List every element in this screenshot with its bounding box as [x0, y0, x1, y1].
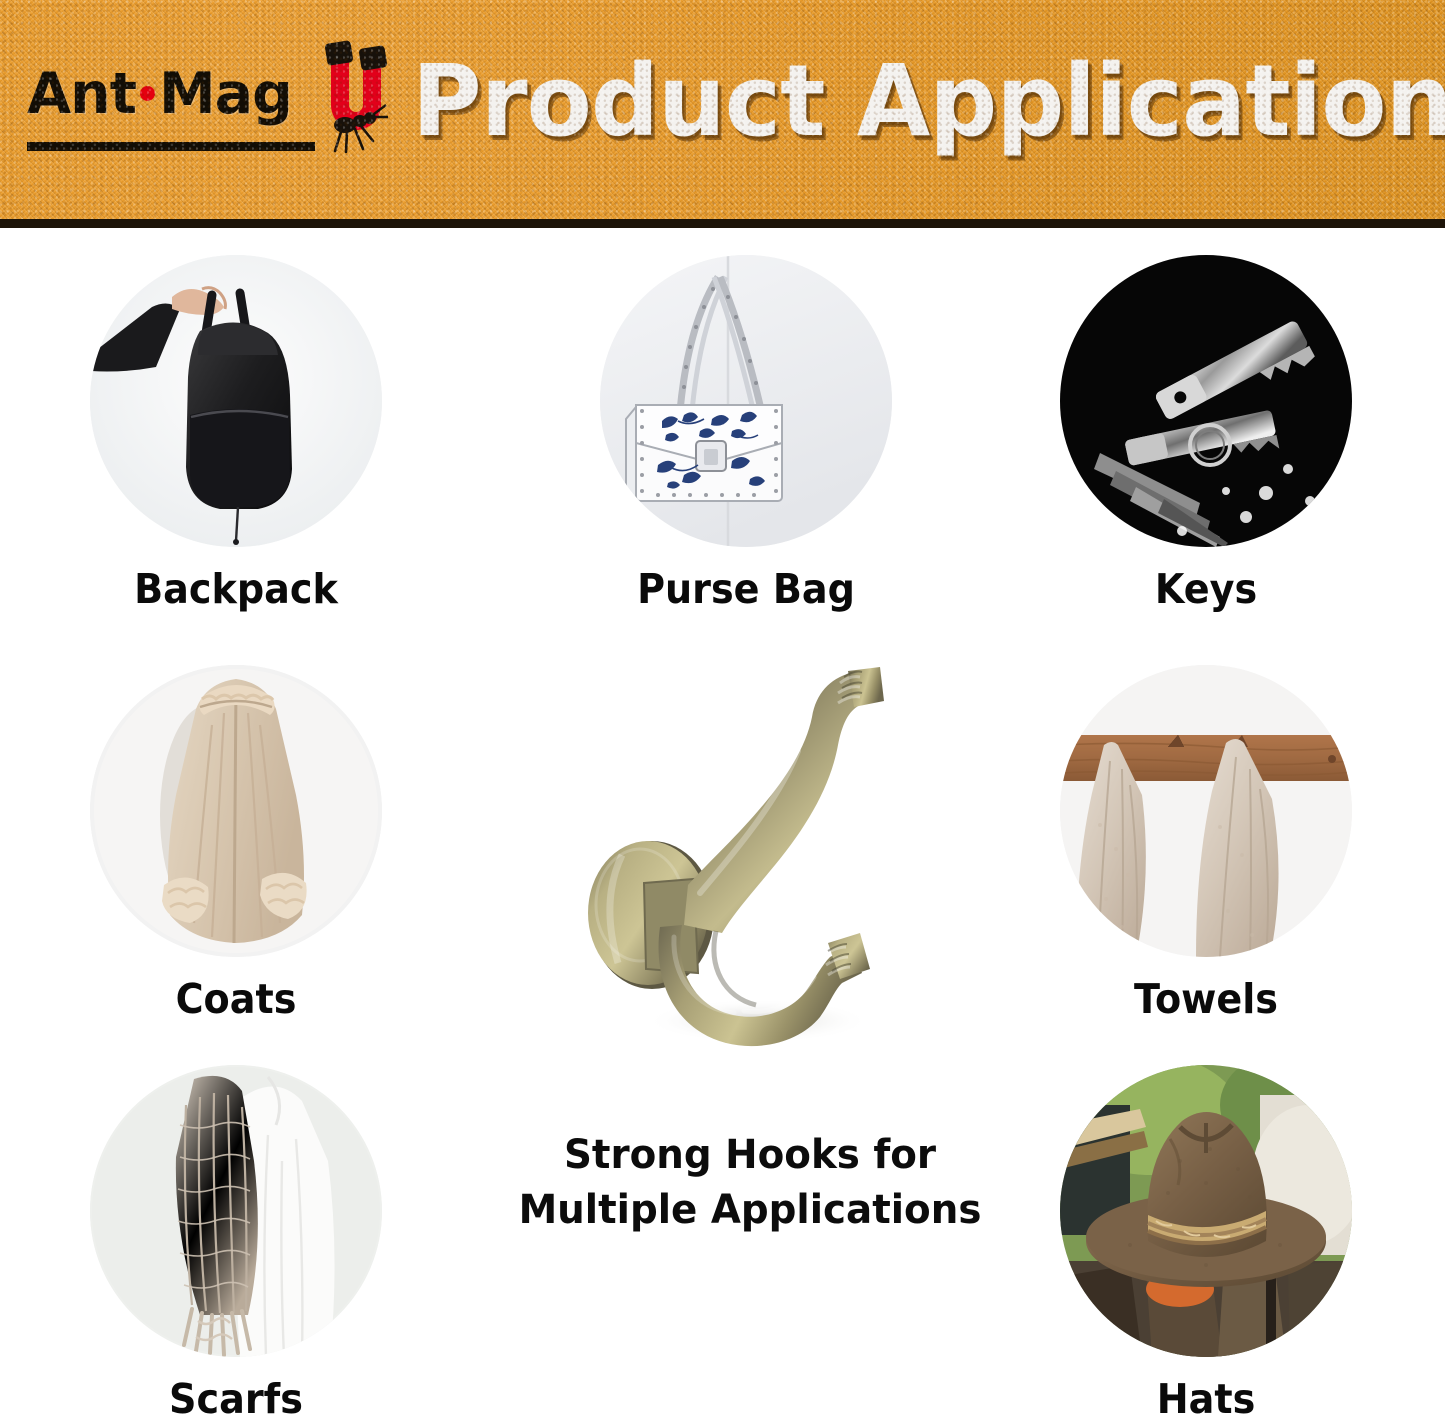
brand-dot-icon [140, 86, 155, 101]
purse-bag-photo [600, 255, 892, 547]
product-label-scarfs: Scarfs [100, 1375, 372, 1423]
brand-part-one: Ant [27, 61, 136, 127]
brand-underline [27, 142, 315, 151]
product-item-keys: Keys [1060, 255, 1352, 547]
header-banner: AntMag Product Applications [0, 0, 1445, 228]
center-caption-line-2: Multiple Applications [478, 1183, 1021, 1238]
product-label-keys: Keys [1070, 565, 1342, 613]
scarfs-photo [90, 1065, 382, 1357]
ant-carrying-magnet-icon [313, 33, 399, 155]
backpack-photo [90, 255, 382, 547]
product-item-coats: Coats [90, 665, 382, 957]
product-label-purse: Purse Bag [610, 565, 882, 613]
product-item-towels: Towels [1060, 665, 1352, 957]
product-label-backpack: Backpack [100, 565, 372, 613]
product-item-scarfs: Scarfs [90, 1065, 382, 1357]
product-item-purse: Purse Bag [600, 255, 892, 547]
brand-logo: AntMag [27, 66, 317, 166]
product-item-hats: Hats [1060, 1065, 1352, 1357]
product-item-backpack: Backpack [90, 255, 382, 547]
page-title: Product Applications [412, 52, 1445, 151]
coats-photo [90, 665, 382, 957]
center-caption-line-1: Strong Hooks for [478, 1128, 1021, 1183]
center-caption: Strong Hooks for Multiple Applications [478, 1128, 1021, 1238]
keys-photo [1060, 255, 1352, 547]
product-label-hats: Hats [1070, 1375, 1342, 1423]
coat-hook-product-photo [548, 625, 948, 1075]
hats-photo [1060, 1065, 1352, 1357]
towels-photo [1060, 665, 1352, 957]
brand-logo-text: AntMag [27, 66, 317, 123]
brand-part-two: Mag [159, 61, 292, 127]
product-label-towels: Towels [1070, 975, 1342, 1023]
product-label-coats: Coats [100, 975, 372, 1023]
